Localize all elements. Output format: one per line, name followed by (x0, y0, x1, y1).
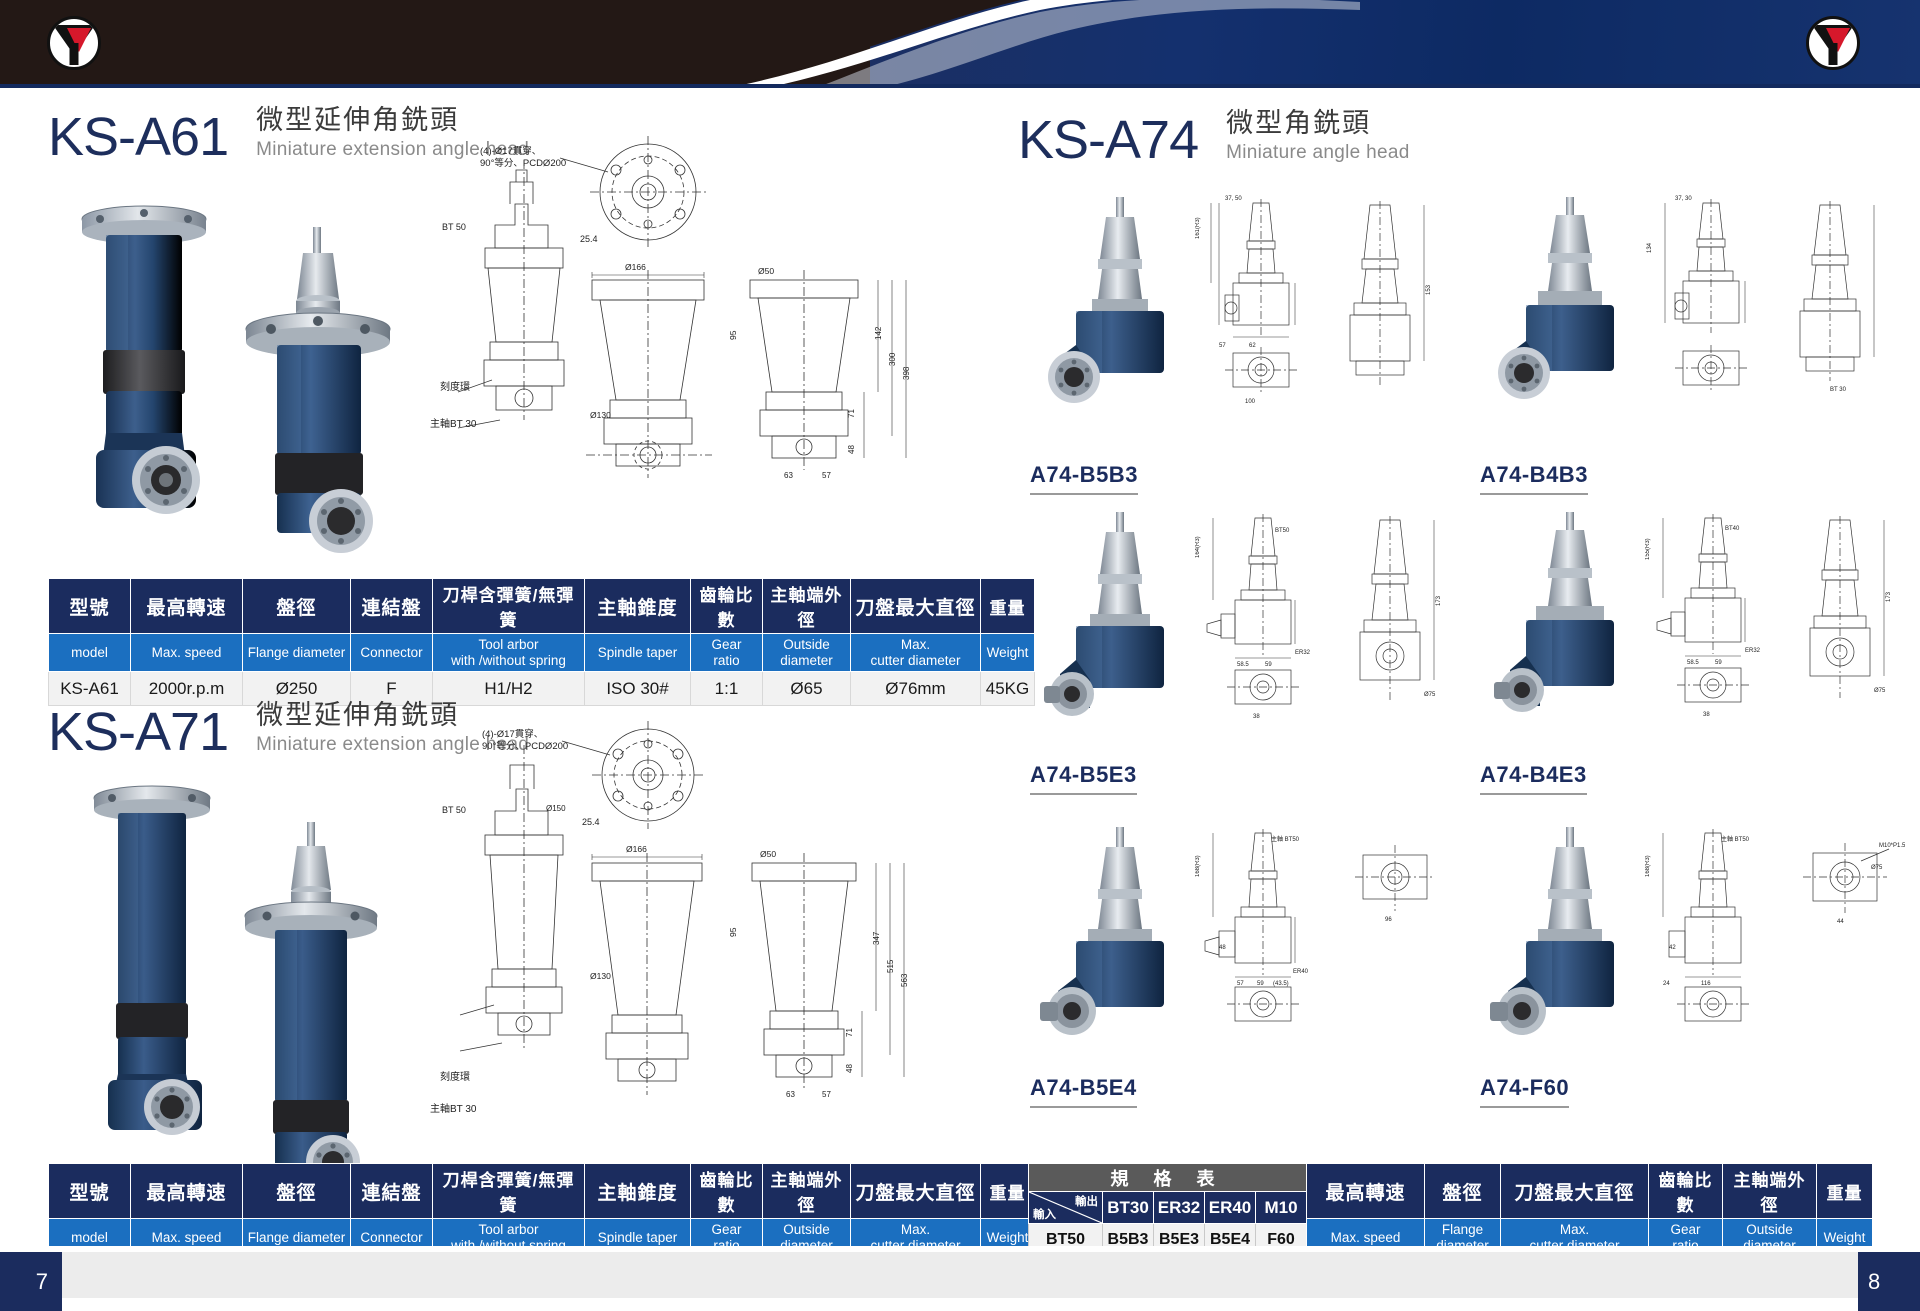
cad-dim-300: 300 (888, 352, 897, 366)
section-code: KS-A71 (48, 705, 228, 759)
cad-label-spindle-text-a71: 主軸BT 30 (430, 1100, 477, 1115)
svg-text:37, 30: 37, 30 (1675, 196, 1692, 202)
svg-text:48: 48 (1219, 945, 1226, 951)
section-name-cn: 微型角銑頭 (1226, 108, 1409, 139)
svg-text:168(R3): 168(R3) (1195, 855, 1201, 877)
th-cn-weight: 重量 (1817, 1164, 1873, 1219)
model-label-a74-b4e3: A74-B4E3 (1480, 762, 1587, 795)
matrix-header-row: 輸出 輸入 BT30 ER32 ER40 M10 (1029, 1192, 1307, 1224)
cad-drawing-a74-b5e4-dims: 主軸 BT50 168(R3) ER40 57 59 (43.5) 48 (1195, 825, 1335, 1055)
cad-dim-d166: Ø166 (626, 844, 647, 854)
cad-dim-d50: Ø50 (760, 849, 776, 859)
cad-note-holes-2: 90°等分、PCDØ200 (482, 740, 568, 752)
th-en-tool-arbor: Tool arbor with /without spring (433, 634, 585, 672)
svg-text:44: 44 (1837, 919, 1844, 925)
svg-text:116: 116 (1701, 981, 1711, 987)
th-cn-connector: 連結盤 (351, 579, 433, 634)
cad-drawing-a74-b4e3-side: 173 Ø75 (1780, 510, 1900, 740)
product-photo-ks-a71-angle (215, 820, 415, 1200)
product-photo-a74-b5e4 (1030, 825, 1210, 1055)
cad-dim-63: 63 (786, 1090, 795, 1099)
svg-text:主軸 BT50: 主軸 BT50 (1271, 835, 1300, 843)
th-cn-outside-diameter: 主軸端外徑 (763, 1164, 851, 1219)
top-banner (0, 0, 1920, 88)
svg-text:Ø75: Ø75 (1424, 692, 1436, 698)
banner-underline (0, 84, 1920, 88)
company-logo-left (47, 16, 101, 70)
cad-dim-d150: Ø150 (546, 804, 566, 813)
product-photo-a74-b4b3 (1480, 195, 1660, 425)
page-number-right: 8 (1858, 1252, 1920, 1311)
svg-text:38: 38 (1703, 712, 1710, 718)
svg-text:58.5: 58.5 (1237, 662, 1249, 668)
model-label-a74-b5b3: A74-B5B3 (1030, 462, 1138, 495)
matrix-col-bt30: BT30 (1103, 1192, 1154, 1224)
cad-dim-71: 71 (847, 409, 856, 418)
th-cn-max-speed: 最高轉速 (131, 1164, 243, 1219)
cad-drawing-a74-b5b3-side: 153 (1320, 195, 1440, 425)
svg-text:主軸 BT50: 主軸 BT50 (1721, 835, 1750, 843)
th-cn-flange-diameter: 盤徑 (243, 579, 351, 634)
th-cn-spindle-taper: 主軸錐度 (585, 1164, 691, 1219)
cad-drawing-a74-b4b3-side: BT 30 (1770, 195, 1890, 425)
cad-dim-563: 563 (900, 973, 909, 987)
product-photo-a74-b5e3 (1030, 510, 1210, 740)
svg-text:(43.5): (43.5) (1273, 981, 1289, 987)
th-en-weight: Weight (981, 634, 1035, 672)
th-cn-weight: 重量 (981, 579, 1035, 634)
logo-mark-stem-icon (1829, 43, 1838, 65)
cad-dim-d50: Ø50 (758, 266, 774, 276)
cad-dim-95: 95 (728, 330, 738, 340)
th-en-max-speed: Max. speed (131, 634, 243, 672)
th-cn-flange-diameter: 盤徑 (243, 1164, 351, 1219)
th-cn-flange-diameter: 盤徑 (1425, 1164, 1501, 1219)
spec-header-en-row: model Max. speed Flange diameter Connect… (49, 634, 1035, 672)
th-en-gear-ratio: Gear ratio (691, 634, 763, 672)
matrix-axis-corner: 輸出 輸入 (1029, 1192, 1103, 1224)
matrix-caption-row: 規 格 表 (1029, 1164, 1307, 1192)
logo-mark-stem-icon (70, 43, 79, 65)
cad-dim-95: 95 (728, 927, 738, 937)
th-cn-model: 型號 (49, 1164, 131, 1219)
svg-text:BT 30: BT 30 (1830, 387, 1847, 393)
cad-dim-398: 398 (902, 366, 911, 380)
svg-text:164(R3): 164(R3) (1195, 536, 1201, 558)
spec-table-ks-a61: 型號 最高轉速 盤徑 連結盤 刀桿含彈簧/無彈簧 主軸錐度 齒輪比數 主軸端外徑… (48, 578, 1035, 706)
spec-header-cn-row: 型號 最高轉速 盤徑 連結盤 刀桿含彈簧/無彈簧 主軸錐度 齒輪比數 主軸端外徑… (49, 1164, 1035, 1219)
cad-dim-347: 347 (872, 931, 881, 945)
catalog-page: KS-A61 微型延伸角銑頭 Miniature extension angle… (0, 0, 1920, 1311)
model-label-a74-b5e3: A74-B5E3 (1030, 762, 1137, 795)
th-en-connector: Connector (351, 634, 433, 672)
svg-text:59: 59 (1715, 660, 1722, 666)
th-cn-max-speed: 最高轉速 (1307, 1164, 1425, 1219)
cad-note-holes: (4)-Ø17貫穿、 (480, 145, 541, 157)
svg-text:62: 62 (1249, 343, 1256, 349)
svg-text:57: 57 (1219, 343, 1226, 349)
cell-max-cutter-diameter: Ø76mm (851, 672, 981, 706)
model-label-a74-f60: A74-F60 (1480, 1075, 1569, 1108)
cad-label-spindle-text: 主軸BT 30 (430, 415, 477, 430)
matrix-col-er32: ER32 (1154, 1192, 1205, 1224)
cad-dim-63: 63 (784, 471, 793, 480)
cad-drawing-ks-a71: (4)-Ø17貫穿、 90°等分、PCDØ200 25.4 BT 50 Ø150 (440, 715, 940, 1135)
th-cn-max-cutter-diameter: 刀盤最大直徑 (851, 579, 981, 634)
svg-text:ER40: ER40 (1293, 969, 1309, 975)
banner-swoosh-graphic (600, 0, 1360, 88)
cad-dim-57: 57 (822, 1090, 831, 1099)
th-cn-gear-ratio: 齒輪比數 (1649, 1164, 1723, 1219)
matrix-axis-input-label: 輸入 (1033, 1206, 1056, 1222)
th-cn-weight: 重量 (981, 1164, 1035, 1219)
cad-drawing-a74-b4e3-dims: 155(R3) BT40 ER32 58.5 59 38 (1645, 510, 1785, 740)
svg-text:155(R3): 155(R3) (1645, 538, 1651, 560)
th-cn-gear-ratio: 齒輪比數 (691, 579, 763, 634)
th-cn-connector: 連結盤 (351, 1164, 433, 1219)
cad-note-holes-2: 90°等分、PCDØ200 (480, 157, 566, 169)
cell-gear-ratio: 1:1 (691, 672, 763, 706)
svg-text:37, 50: 37, 50 (1225, 196, 1242, 202)
product-photo-ks-a61-angle (215, 225, 430, 555)
footer-bar (60, 1252, 1860, 1298)
cad-drawing-ks-a61: (4)-Ø17貫穿、 90°等分、PCDØ200 25.4 BT 50 (440, 130, 940, 530)
svg-text:BT50: BT50 (1275, 528, 1290, 534)
svg-text:Ø75: Ø75 (1874, 688, 1886, 694)
svg-text:96: 96 (1385, 917, 1392, 923)
svg-text:59: 59 (1265, 662, 1272, 668)
svg-text:58.5: 58.5 (1687, 660, 1699, 666)
svg-text:173: 173 (1436, 595, 1442, 606)
th-cn-outside-diameter: 主軸端外徑 (763, 579, 851, 634)
section-code: KS-A74 (1018, 113, 1198, 167)
cad-label-scale-ring-text-a71: 刻度環 (440, 1068, 470, 1083)
th-en-flange-diameter: Flange diameter (243, 634, 351, 672)
svg-text:134: 134 (1647, 242, 1653, 253)
cad-dim-142: 142 (874, 326, 883, 340)
th-cn-tool-arbor: 刀桿含彈簧/無彈簧 (433, 1164, 585, 1219)
product-photo-a74-b5b3 (1030, 195, 1210, 425)
cad-dim-515: 515 (886, 959, 895, 973)
cad-drawing-a74-f60-side: M10*P1.5 44 Ø75 (1785, 825, 1905, 1055)
th-cn-max-cutter-diameter: 刀盤最大直徑 (851, 1164, 981, 1219)
cad-dim-254: 25.4 (580, 234, 598, 244)
svg-text:ER32: ER32 (1295, 650, 1311, 656)
cad-dim-48: 48 (845, 1064, 854, 1073)
th-cn-gear-ratio: 齒輪比數 (691, 1164, 763, 1219)
cad-drawing-a74-b5e3-side: 173 Ø75 (1330, 510, 1450, 740)
svg-text:Ø75: Ø75 (1871, 865, 1883, 871)
th-cn-model: 型號 (49, 579, 131, 634)
section-title-ks-a74: KS-A74 微型角銑頭 Miniature angle head (1018, 108, 1410, 167)
matrix-col-m10: M10 (1256, 1192, 1307, 1224)
cad-drawing-a74-b4b3-dims: 37, 30 134 (1645, 195, 1775, 425)
cad-dim-d130: Ø130 (590, 971, 611, 981)
svg-text:168(R3): 168(R3) (1645, 855, 1651, 877)
cad-drawing-a74-b5b3-dims: 161(R3) 37, 50 100 57 62 (1195, 195, 1325, 425)
matrix-col-er40: ER40 (1205, 1192, 1256, 1224)
svg-text:42: 42 (1669, 945, 1676, 951)
svg-text:100: 100 (1245, 399, 1256, 405)
cad-dim-48: 48 (847, 445, 856, 454)
svg-text:161(R3): 161(R3) (1195, 217, 1201, 239)
svg-text:24: 24 (1663, 981, 1670, 987)
spec-header-cn-row: 型號 最高轉速 盤徑 連結盤 刀桿含彈簧/無彈簧 主軸錐度 齒輪比數 主軸端外徑… (49, 579, 1035, 634)
cad-label-bt50: BT 50 (442, 805, 466, 815)
svg-text:38: 38 (1253, 714, 1260, 720)
cad-note-holes: (4)-Ø17貫穿、 (482, 728, 543, 740)
th-en-outside-diameter: Outside diameter (763, 634, 851, 672)
cad-dim-d166: Ø166 (625, 262, 646, 272)
th-cn-outside-diameter: 主軸端外徑 (1723, 1164, 1817, 1219)
th-cn-max-cutter-diameter: 刀盤最大直徑 (1501, 1164, 1649, 1219)
model-label-a74-b4b3: A74-B4B3 (1480, 462, 1588, 495)
cad-label-bt50: BT 50 (442, 222, 466, 232)
cad-label-scale-ring-text: 刻度環 (440, 378, 470, 393)
th-en-model: model (49, 634, 131, 672)
cad-drawing-a74-f60-dims: 主軸 BT50 168(R3) 42 116 24 (1645, 825, 1785, 1055)
svg-text:153: 153 (1426, 284, 1432, 295)
th-en-spindle-taper: Spindle taper (585, 634, 691, 672)
product-photo-a74-b4e3 (1480, 510, 1660, 740)
cad-dim-254: 25.4 (582, 817, 600, 827)
th-cn-max-speed: 最高轉速 (131, 579, 243, 634)
product-photo-a74-f60 (1480, 825, 1660, 1055)
section-name-en: Miniature angle head (1226, 141, 1409, 165)
svg-text:BT40: BT40 (1725, 526, 1740, 532)
svg-text:M10*P1.5: M10*P1.5 (1879, 843, 1905, 849)
page-number-left: 7 (0, 1252, 62, 1311)
svg-text:173: 173 (1886, 591, 1892, 602)
cad-dim-57: 57 (822, 471, 831, 480)
svg-text:57: 57 (1237, 981, 1244, 987)
spec-header-cn-row: 最高轉速 盤徑 刀盤最大直徑 齒輪比數 主軸端外徑 重量 (1307, 1164, 1873, 1219)
cell-outside-diameter: Ø65 (763, 672, 851, 706)
th-cn-tool-arbor: 刀桿含彈簧/無彈簧 (433, 579, 585, 634)
cad-drawing-a74-b5e4-side: 96 (1335, 825, 1455, 1055)
model-label-a74-b5e4: A74-B5E4 (1030, 1075, 1137, 1108)
matrix-axis-output-label: 輸出 (1075, 1193, 1098, 1209)
matrix-caption: 規 格 表 (1029, 1164, 1307, 1192)
cad-drawing-a74-b5e3-dims: 164(R3) BT50 ER32 58.5 59 38 (1195, 510, 1335, 740)
company-logo-right (1806, 16, 1860, 70)
cell-spindle-taper: ISO 30# (585, 672, 691, 706)
cad-dim-d130: Ø130 (590, 410, 611, 420)
cad-dim-71: 71 (845, 1028, 854, 1037)
section-code: KS-A61 (48, 110, 228, 164)
cell-weight: 45KG (981, 672, 1035, 706)
svg-text:59: 59 (1257, 981, 1264, 987)
th-en-max-cutter-diameter: Max. cutter diameter (851, 634, 981, 672)
th-cn-spindle-taper: 主軸錐度 (585, 579, 691, 634)
svg-text:ER32: ER32 (1745, 648, 1761, 654)
